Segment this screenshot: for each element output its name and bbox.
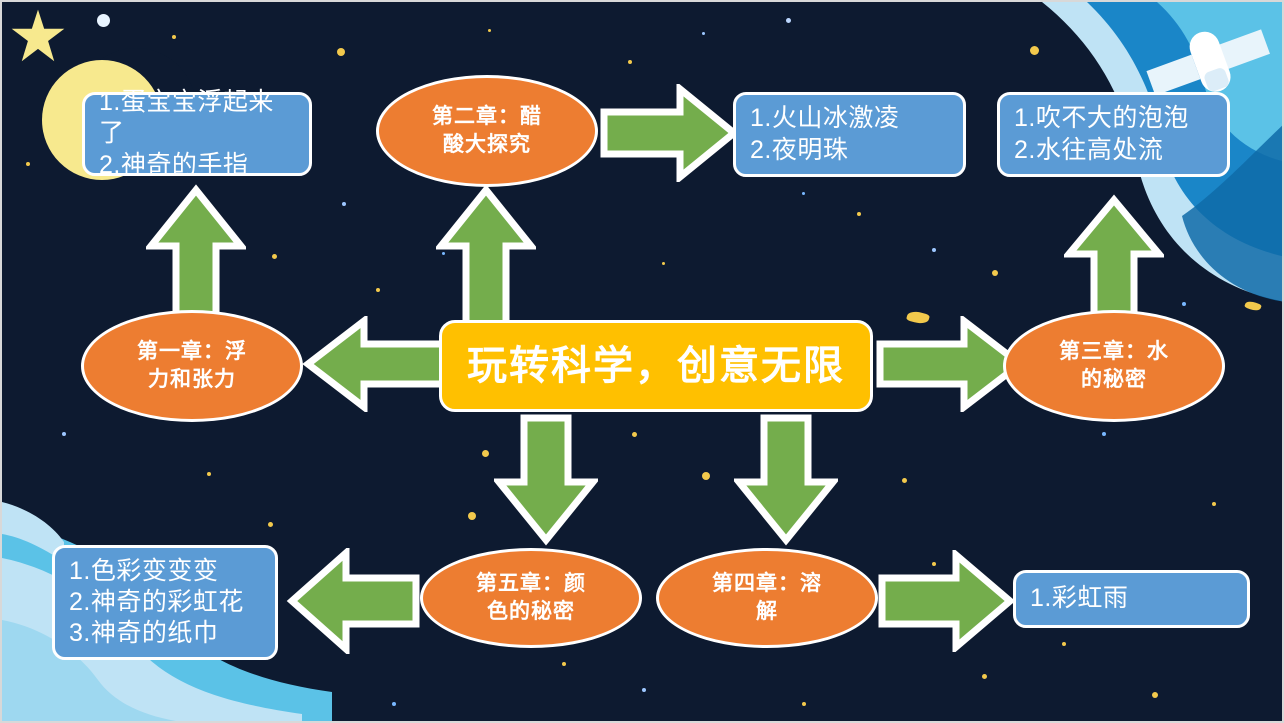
chapter-3-node[interactable]: 第三章：水 的秘密 — [1003, 310, 1225, 422]
chapter-5-node[interactable]: 第五章：颜 色的秘密 — [420, 548, 642, 648]
chapter-4-label: 第四章：溶 解 — [712, 570, 822, 627]
activity-box-top-mid-text: 1.火山冰激凌 2.夜明珠 — [750, 103, 899, 166]
activity-box-bottom-left-text: 1.色彩变变变 2.神奇的彩虹花 3.神奇的纸巾 — [69, 556, 244, 650]
center-title-text: 玩转科学，创意无限 — [467, 344, 845, 388]
arrow-right-ch4-to-box — [876, 550, 1016, 652]
activity-box-top-mid[interactable]: 1.火山冰激凌 2.夜明珠 — [733, 92, 966, 177]
activity-box-top-right-text: 1.吹不大的泡泡 2.水往高处流 — [1014, 103, 1189, 166]
chapter-2-node[interactable]: 第二章：醋 酸大探究 — [376, 75, 598, 187]
arrow-left-center-to-ch1 — [302, 316, 454, 412]
arrow-down-center-to-ch4 — [734, 412, 838, 546]
chapter-1-node[interactable]: 第一章：浮 力和张力 — [81, 310, 303, 422]
slide-canvas: 1.蛋宝宝浮起来了 2.神奇的手指 第二章：醋 酸大探究 1.火山冰激凌 2.夜… — [0, 0, 1284, 723]
center-title-node[interactable]: 玩转科学，创意无限 — [439, 320, 873, 412]
chapter-4-node[interactable]: 第四章：溶 解 — [656, 548, 878, 648]
activity-box-top-right[interactable]: 1.吹不大的泡泡 2.水往高处流 — [997, 92, 1230, 177]
activity-box-bottom-right[interactable]: 1.彩虹雨 — [1013, 570, 1250, 628]
activity-box-bottom-left[interactable]: 1.色彩变变变 2.神奇的彩虹花 3.神奇的纸巾 — [52, 545, 278, 660]
activity-box-bottom-right-text: 1.彩虹雨 — [1030, 583, 1128, 614]
chapter-2-label: 第二章：醋 酸大探究 — [432, 103, 542, 160]
activity-box-top-left-text: 1.蛋宝宝浮起来了 2.神奇的手指 — [99, 87, 299, 181]
arrow-right-ch2-to-box — [598, 84, 740, 182]
arrow-up-middle — [436, 184, 536, 332]
chapter-1-label: 第一章：浮 力和张力 — [137, 338, 247, 395]
arrow-down-center-to-ch5 — [494, 412, 598, 546]
chapter-3-label: 第三章：水 的秘密 — [1059, 338, 1169, 395]
activity-box-top-left[interactable]: 1.蛋宝宝浮起来了 2.神奇的手指 — [82, 92, 312, 176]
chapter-5-label: 第五章：颜 色的秘密 — [476, 570, 586, 627]
arrow-left-ch5-to-box — [286, 548, 422, 654]
